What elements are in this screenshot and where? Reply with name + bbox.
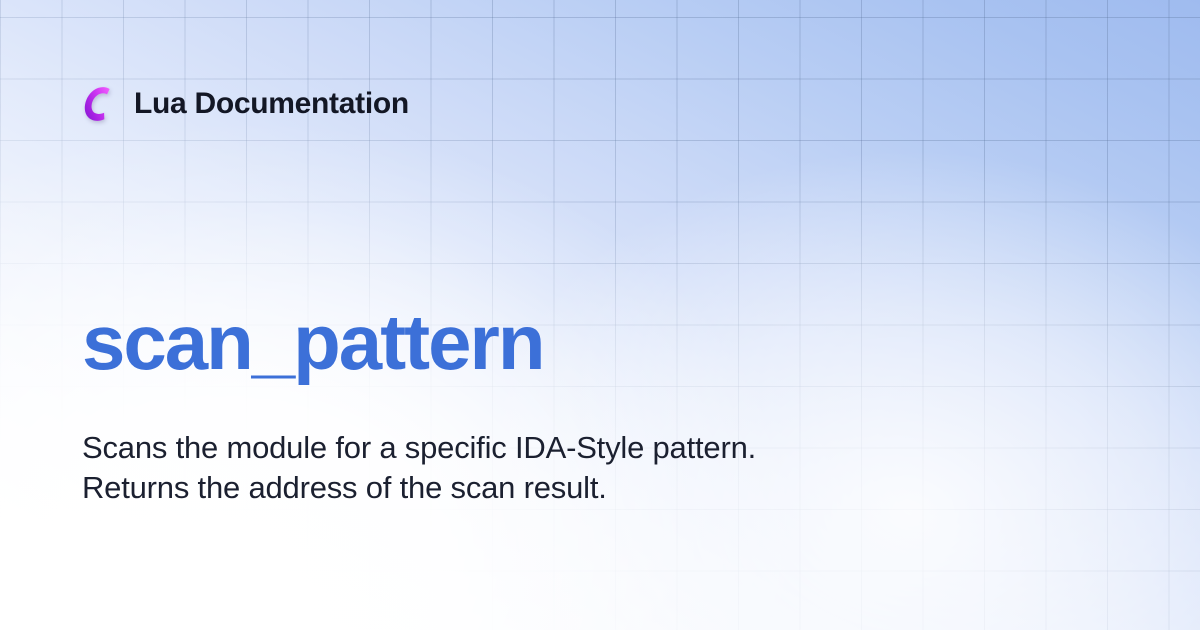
brand-header: Lua Documentation [82, 82, 409, 126]
lua-c-logo-icon [82, 85, 116, 123]
page-description: Scans the module for a specific IDA-Styl… [82, 428, 812, 508]
card-content: Lua Documentation scan_pattern Scans the… [0, 0, 1200, 630]
page-title: scan_pattern [82, 303, 544, 383]
brand-name: Lua Documentation [134, 89, 409, 119]
social-card: Lua Documentation scan_pattern Scans the… [0, 0, 1200, 630]
